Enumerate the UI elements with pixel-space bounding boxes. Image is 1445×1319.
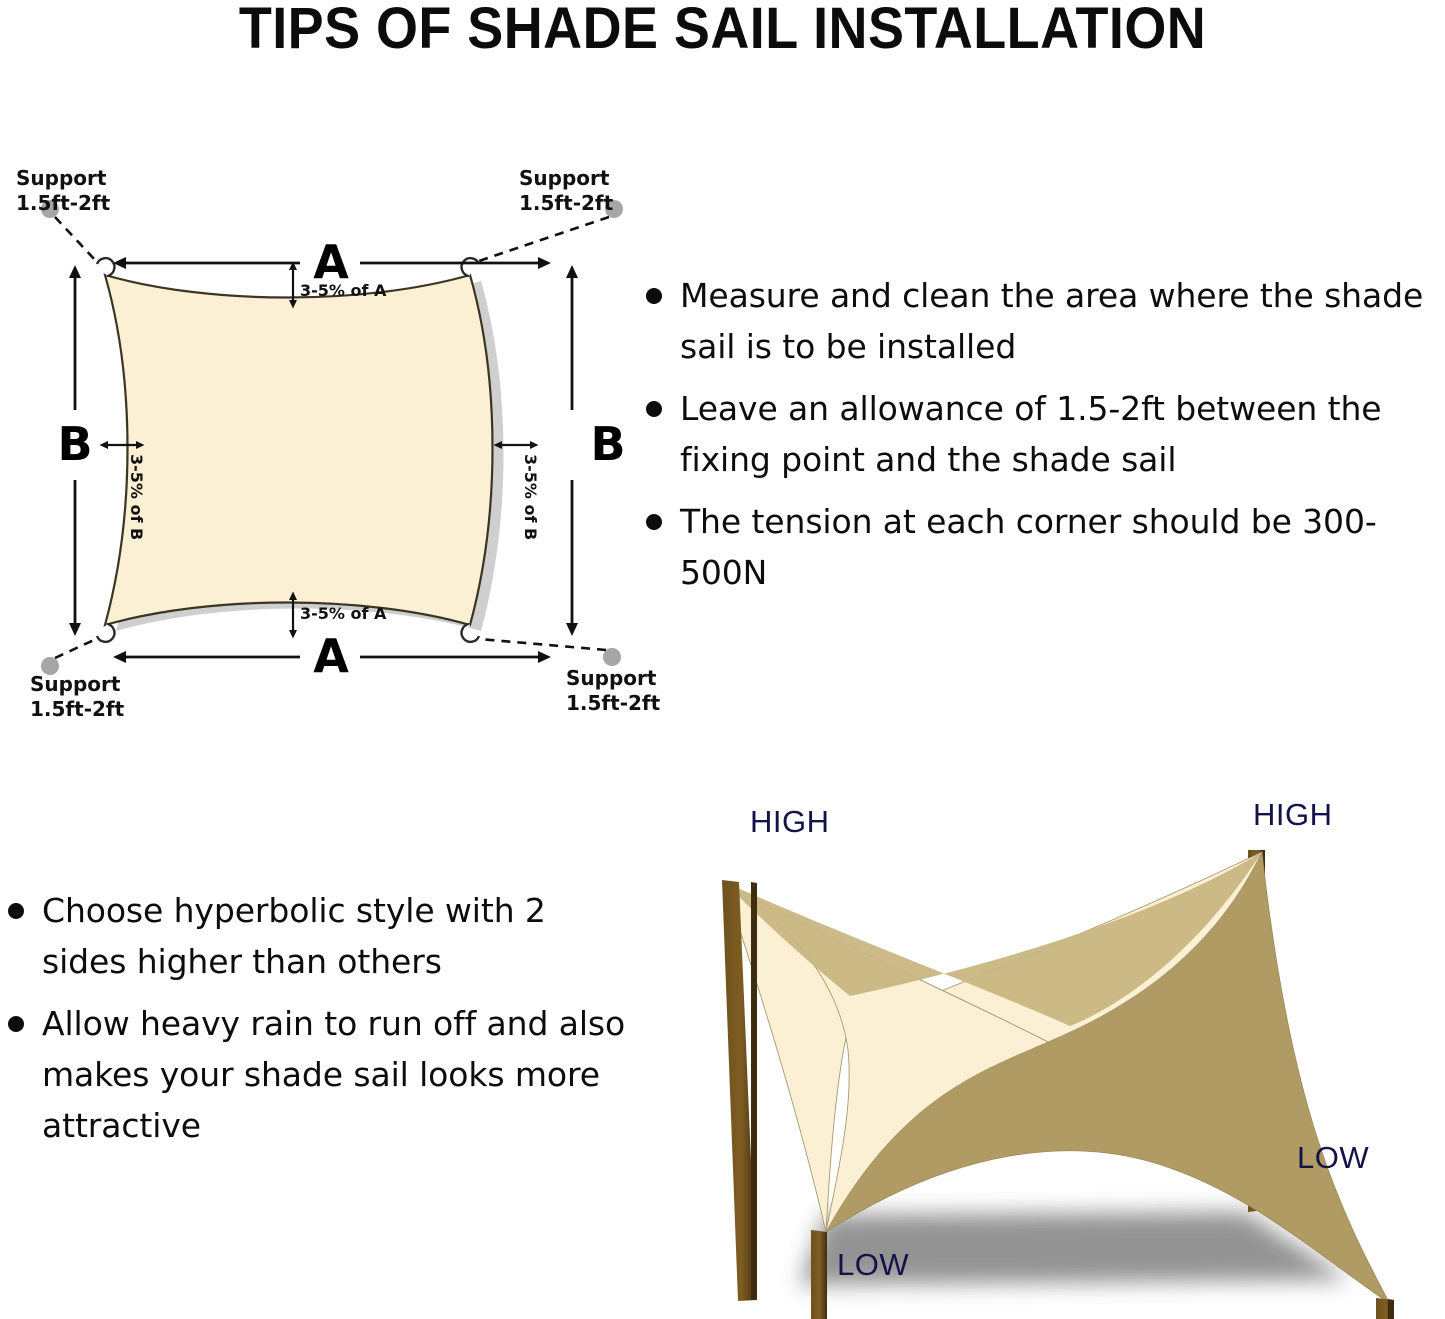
curvature-label-right: 3-5% of B [521, 454, 540, 540]
shade-sail-shape [105, 275, 493, 625]
support-leader-bottom-right [479, 639, 621, 666]
support-label-line1: Support [30, 672, 121, 696]
post-label-high-right: HIGH [1253, 797, 1333, 832]
tip-text: Leave an allowance of 1.5-2ft between th… [680, 389, 1382, 479]
support-label-line2: 1.5ft-2ft [16, 191, 111, 215]
infographic-page: TIPS OF SHADE SAIL INSTALLATION [0, 0, 1445, 1319]
tip-text: Choose hyperbolic style with 2 sides hig… [42, 891, 546, 981]
post-high-left [722, 880, 757, 1301]
bullet-dot-icon [646, 401, 662, 417]
support-label-line2: 1.5ft-2ft [566, 691, 660, 715]
tip-text: Allow heavy rain to run off and also mak… [42, 1004, 625, 1145]
support-label-top-left: Support 1.5ft-2ft [16, 166, 111, 215]
dimension-label-B-left: B [57, 417, 92, 471]
post-label-high-left: HIGH [750, 804, 830, 839]
tips-list-right: Measure and clean the area where the sha… [640, 270, 1445, 609]
curvature-label-top: 3-5% of A [300, 281, 387, 300]
list-item: Choose hyperbolic style with 2 sides hig… [2, 885, 632, 987]
corner-ring-top-right [462, 258, 479, 276]
bullet-dot-icon [646, 514, 662, 530]
support-leader-bottom-left [41, 639, 96, 675]
support-label-bottom-right: Support 1.5ft-2ft [566, 666, 660, 715]
curvature-callout-right: 3-5% of B [502, 445, 540, 540]
curvature-label-left: 3-5% of B [127, 454, 146, 540]
support-label-line1: Support [519, 166, 610, 190]
post-low-right [1376, 1298, 1394, 1319]
corner-ring-top-left [97, 258, 114, 276]
hyperbolic-shade-sail-illustration: HIGH HIGH LOW LOW [650, 780, 1445, 1319]
curvature-callout-bottom: 3-5% of A [293, 600, 387, 630]
dimension-label-A-bottom: A [313, 629, 349, 683]
bullet-dot-icon [8, 903, 24, 919]
support-label-top-right: Support 1.5ft-2ft [519, 166, 614, 215]
tip-text: The tension at each corner should be 300… [680, 502, 1377, 592]
dimension-label-B-right: B [590, 417, 625, 471]
corner-ring-bottom-left [97, 624, 114, 642]
list-item: Allow heavy rain to run off and also mak… [2, 998, 632, 1151]
list-item: Leave an allowance of 1.5-2ft between th… [640, 383, 1445, 485]
bullet-dot-icon [646, 288, 662, 304]
post-low-left [811, 1230, 827, 1319]
tip-text: Measure and clean the area where the sha… [680, 276, 1423, 366]
curvature-label-bottom: 3-5% of A [300, 604, 387, 623]
support-label-line1: Support [566, 666, 657, 690]
post-label-low-left: LOW [837, 1247, 909, 1282]
tips-list-left: Choose hyperbolic style with 2 sides hig… [2, 885, 632, 1162]
bullet-dot-icon [8, 1016, 24, 1032]
support-label-line2: 1.5ft-2ft [30, 697, 125, 721]
list-item: Measure and clean the area where the sha… [640, 270, 1445, 372]
support-label-line1: Support [16, 166, 107, 190]
post-label-low-right-overlay: LOW [1297, 1140, 1369, 1176]
support-label-line2: 1.5ft-2ft [519, 191, 614, 215]
support-label-bottom-left: Support 1.5ft-2ft [30, 672, 125, 721]
list-item: The tension at each corner should be 300… [640, 496, 1445, 598]
page-title: TIPS OF SHADE SAIL INSTALLATION [51, 0, 1395, 62]
rectangular-shade-sail-dimension-diagram: Support 1.5ft-2ft Support 1.5ft-2ft Supp… [0, 160, 660, 730]
